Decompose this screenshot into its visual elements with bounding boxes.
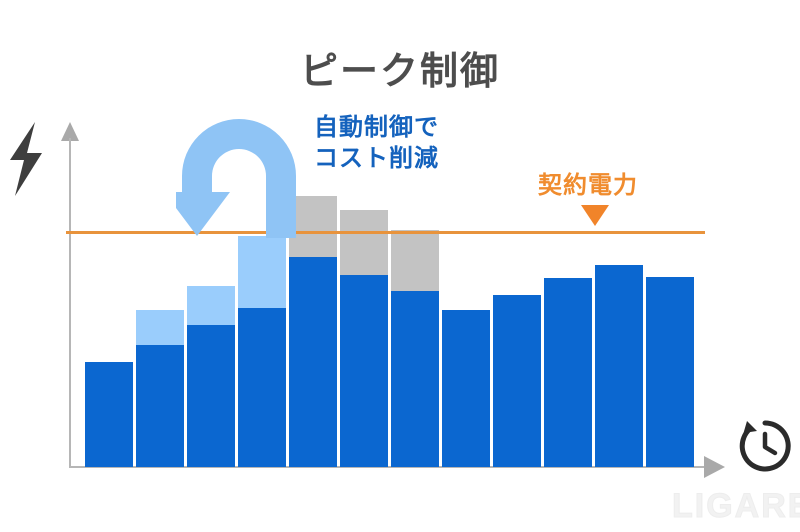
bar-column (136, 310, 184, 467)
bar-segment-base (391, 291, 439, 467)
peak-control-chart: ピーク制御 契約電力 自動制御で コスト削減 LIGARE (0, 0, 800, 532)
bar-segment-shaved (136, 310, 184, 345)
bar-column (391, 230, 439, 467)
bar-segment-shaved (187, 286, 235, 325)
bar-column (238, 236, 286, 467)
bar-segment-base (238, 308, 286, 467)
contract-power-label: 契約電力 (508, 165, 668, 200)
bar-column (595, 265, 643, 467)
bar-column (442, 310, 490, 467)
auto-control-line-1: 自動制御で (314, 114, 439, 141)
triangle-down-icon (581, 205, 609, 226)
bar-segment-base (136, 345, 184, 467)
bar-segment-shaved (238, 236, 286, 308)
bar-segment-base (595, 265, 643, 467)
bar-segment-base (187, 325, 235, 467)
u-turn-arrow-icon (176, 118, 302, 240)
bar-segment-overflow (391, 230, 439, 291)
clock-icon (737, 418, 793, 474)
bar-segment-base (289, 257, 337, 467)
bar-column (340, 210, 388, 467)
bar-segment-base (340, 275, 388, 467)
auto-control-annotation: 自動制御で コスト削減 (314, 112, 494, 174)
bar-column (544, 278, 592, 467)
bar-column (493, 295, 541, 467)
watermark: LIGARE (672, 487, 800, 526)
bar-column (187, 286, 235, 467)
contract-power-line (66, 231, 705, 234)
bar-column (646, 277, 694, 467)
bar-segment-base (544, 278, 592, 467)
bar-segment-overflow (340, 210, 388, 275)
bars-layer (0, 0, 800, 532)
bar-column (85, 362, 133, 467)
bar-segment-base (85, 362, 133, 467)
auto-control-line-2: コスト削減 (314, 143, 494, 174)
bar-segment-base (442, 310, 490, 467)
bar-segment-base (493, 295, 541, 467)
bar-segment-base (646, 277, 694, 467)
